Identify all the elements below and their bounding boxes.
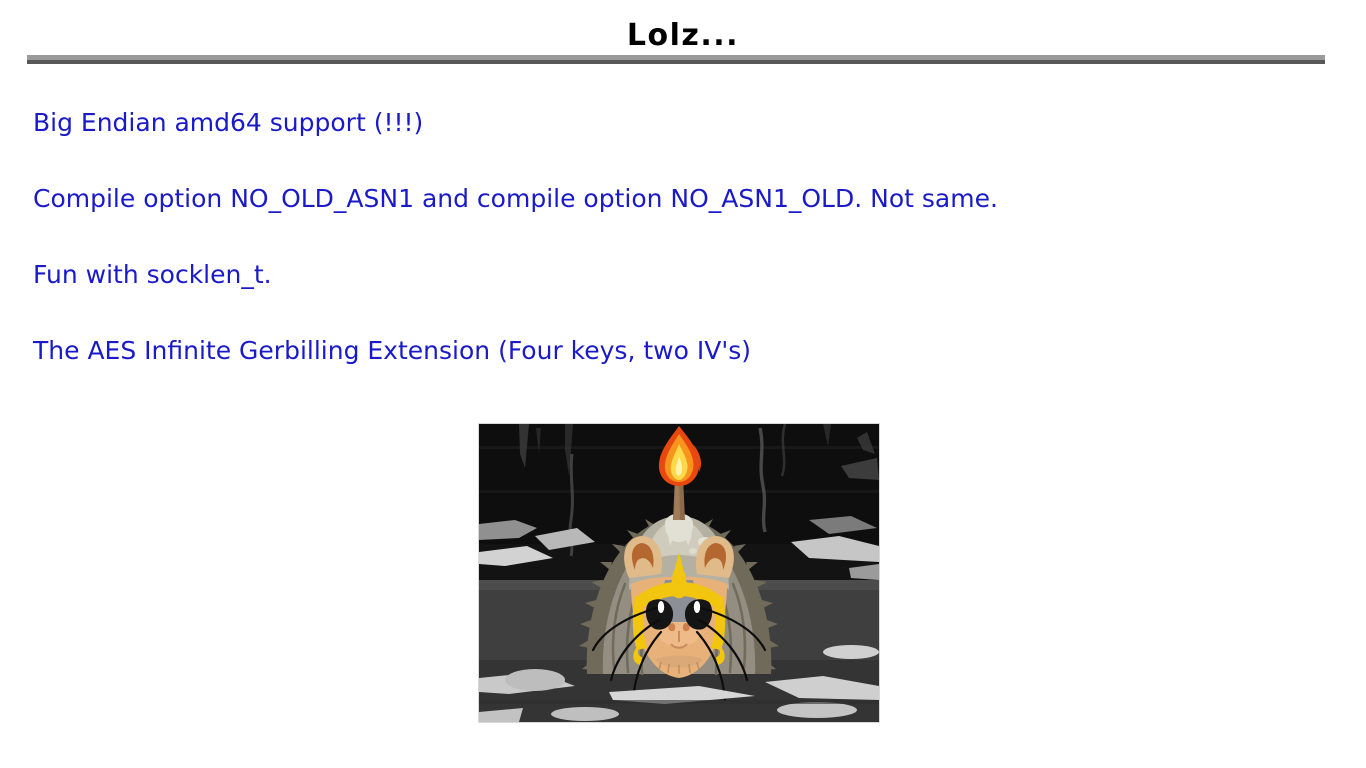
slide-title: Lolz... xyxy=(0,18,1366,54)
gerbil-with-candle-helmet-image xyxy=(479,424,879,722)
bullet-line-3: Fun with socklen_t. xyxy=(33,260,1333,290)
bullet-line-1: Big Endian amd64 support (!!!) xyxy=(33,108,1333,138)
bullet-line-2: Compile option NO_OLD_ASN1 and compile o… xyxy=(33,184,1333,214)
title-divider-rule xyxy=(27,55,1325,64)
slide-body: Big Endian amd64 support (!!!) Compile o… xyxy=(33,108,1333,412)
slide-canvas: Lolz... Big Endian amd64 support (!!!) C… xyxy=(0,0,1366,768)
bullet-line-4: The AES Infinite Gerbilling Extension (F… xyxy=(33,336,1333,366)
